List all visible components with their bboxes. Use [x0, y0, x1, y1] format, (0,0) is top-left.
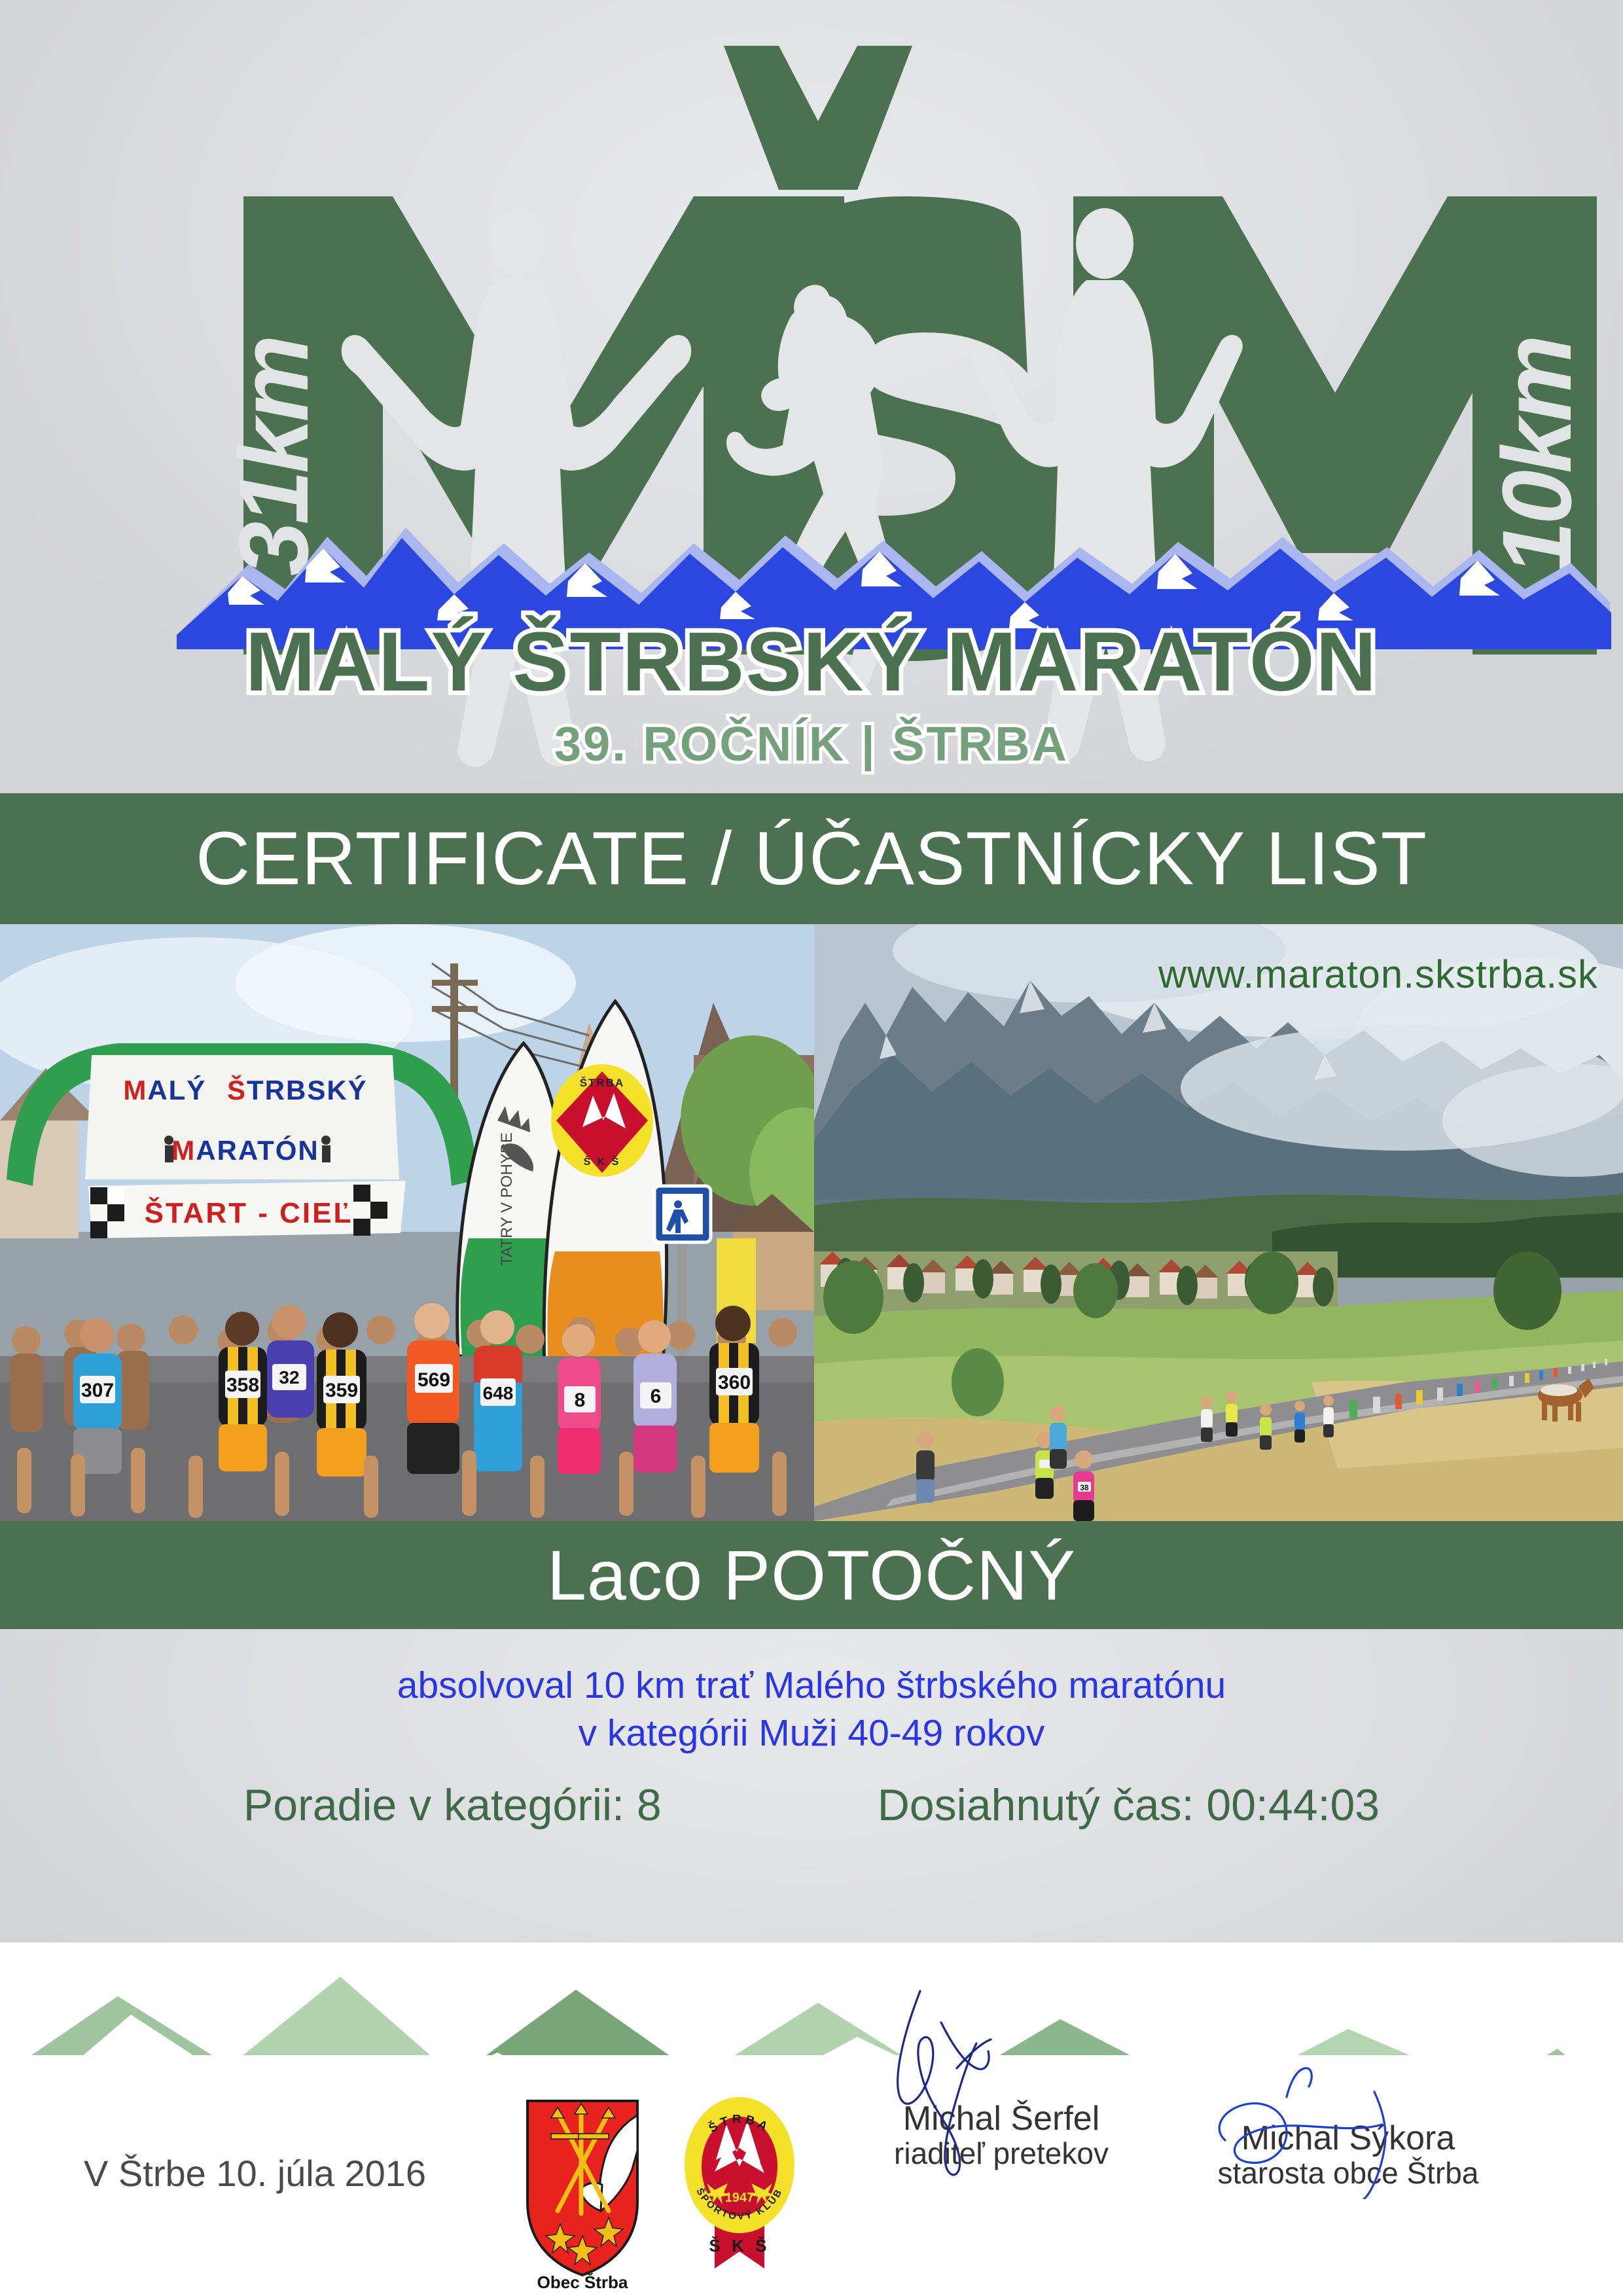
signature-name: Michal Sýkora	[1152, 2121, 1544, 2157]
bib-number: 359	[325, 1380, 358, 1401]
website-url: www.maraton.skstrba.sk	[1158, 952, 1598, 997]
arch-banner-text: ŠTART - CIEĽ	[145, 1196, 353, 1229]
obec-strba-crest-icon: Obec Štrba	[517, 2096, 648, 2292]
description-line-1: absolvoval 10 km trať Malého štrbského m…	[0, 1662, 1623, 1710]
arch-title-line2: MARATÓN	[171, 1134, 319, 1166]
details-section: absolvoval 10 km trať Malého štrbského m…	[0, 1629, 1623, 1943]
edition-line: 39. ROČNÍK | ŠTRBA	[554, 717, 1069, 772]
footer-section: V Štrbe 10. júla 2016	[0, 2055, 1623, 2296]
certificate-page: 31km 10km	[0, 0, 1623, 2296]
crest-label: Obec Štrba	[537, 2272, 628, 2292]
participant-name: Laco POTOČNÝ	[547, 1540, 1076, 1611]
achieved-time: Dosiahnutý čas: 00:44:03	[878, 1780, 1380, 1831]
place-and-date: V Štrbe 10. júla 2016	[84, 2152, 426, 2195]
arch-title-line1: MALÝ ŠTRBSKÝ	[123, 1074, 367, 1105]
signature-name: Michal Šerfel	[805, 2101, 1198, 2137]
bib-number: 360	[718, 1372, 751, 1393]
results-row: Poradie v kategórii: 8 Dosiahnutý čas: 0…	[0, 1780, 1623, 1831]
photo-strip: MALÝ ŠTRBSKÝ MARATÓN	[0, 924, 1623, 1521]
bib-number: 358	[226, 1374, 259, 1396]
sks-club-logo-icon: 1947 ŠTRBA ŠPORTOVÝ KLUB Š K Š	[674, 2080, 805, 2283]
bib-number: 569	[418, 1369, 450, 1391]
bib-number: 648	[483, 1383, 514, 1403]
photo-tatra-panorama: 38	[814, 924, 1623, 1521]
rank-in-category: Poradie v kategórii: 8	[243, 1780, 662, 1831]
flag-club-bottom: Š K Š	[584, 1155, 621, 1168]
bib-number: 307	[81, 1380, 114, 1401]
logo-header: 31km 10km	[0, 0, 1623, 793]
flag-club-top: ŠTRBA	[580, 1077, 625, 1089]
signature-block-mayor: Michal Sýkora starosta obce Štrba	[1152, 2121, 1544, 2190]
msm-logo-graphic: 31km 10km	[0, 0, 1623, 793]
club-year: 1947	[725, 2191, 755, 2205]
club-bottom-text: Š K Š	[709, 2236, 770, 2255]
certificate-title: CERTIFICATE / ÚČASTNÍCKY LIST	[196, 821, 1427, 897]
description-line-2: v kategórii Muži 40-49 rokov	[0, 1710, 1623, 1757]
bib-number: 38	[1080, 1483, 1089, 1492]
participant-name-band: Laco POTOČNÝ	[0, 1521, 1623, 1629]
photo-start-line: MALÝ ŠTRBSKÝ MARATÓN	[0, 924, 814, 1521]
description-block: absolvoval 10 km trať Malého štrbského m…	[0, 1662, 1623, 1757]
bib-number: 32	[279, 1367, 299, 1388]
bib-number: 8	[575, 1390, 586, 1411]
certificate-title-bar: CERTIFICATE / ÚČASTNÍCKY LIST	[0, 793, 1623, 924]
distance-right-text: 10km	[1482, 338, 1592, 576]
signature-block-director: Michal Šerfel riaditeľ pretekov	[805, 2101, 1198, 2170]
distance-left-text: 31km	[219, 338, 329, 576]
signature-role: riaditeľ pretekov	[805, 2137, 1198, 2170]
bib-number: 6	[651, 1386, 662, 1407]
signature-role: starosta obce Štrba	[1152, 2157, 1544, 2190]
event-title: MALÝ ŠTRBSKÝ MARATÓN	[245, 615, 1378, 709]
